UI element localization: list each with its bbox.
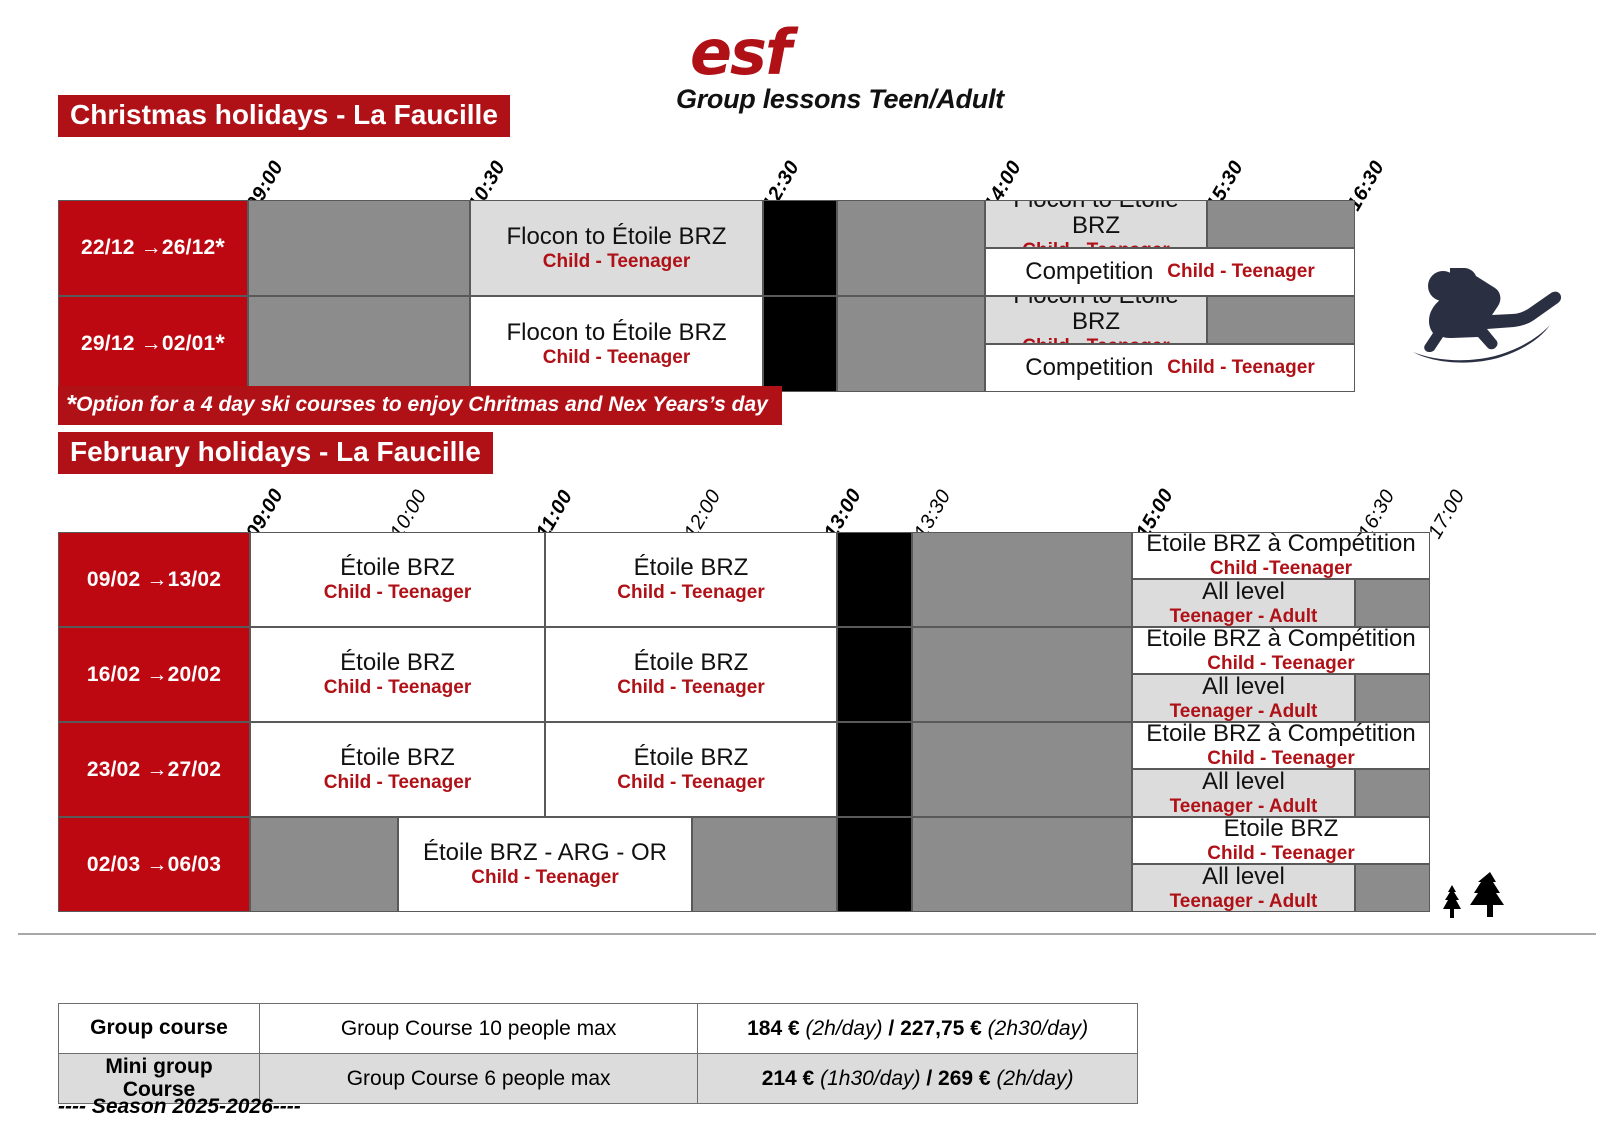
horizontal-divider (18, 933, 1596, 935)
christmas-row-1-lunch-break (763, 296, 837, 392)
february-row-0-slot1[interactable]: Étoile BRZ Child - Teenager (250, 532, 545, 627)
christmas-row-1-afternoon-top-audience: Child - Teenager (1022, 336, 1169, 344)
price-row-1-separator: / (926, 1067, 932, 1090)
february-row-1-slot2-audience: Child - Teenager (617, 677, 764, 698)
price-row-1-description: Group Course 6 people max (260, 1054, 698, 1104)
february-row-0-slot2[interactable]: Étoile BRZ Child - Teenager (545, 532, 837, 627)
february-row-1-slot1-audience: Child - Teenager (324, 677, 471, 698)
price-row-0-price1-detail: (2h/day) (806, 1017, 883, 1040)
february-row-2-lunch-break (837, 722, 912, 817)
february-row-2-day: 23/02 →27/02 (58, 722, 250, 817)
christmas-row-0-afternoon-bottom[interactable]: Competition Child - Teenager (985, 248, 1355, 296)
christmas-row-0-afternoon-bottom-audience: Child - Teenager (1167, 261, 1314, 282)
february-row-2-pm-top-title: Étoile BRZ à Compétition (1146, 722, 1415, 748)
february-row-3-day: 02/03 →06/03 (58, 817, 250, 912)
february-row-2-pm-bottom-title: All level (1202, 769, 1285, 796)
christmas-row-1-afternoon-bottom-audience: Child - Teenager (1167, 357, 1314, 378)
christmas-row-1-morning-audience: Child - Teenager (543, 347, 690, 368)
february-row-2-slot2-audience: Child - Teenager (617, 772, 764, 793)
page-subtitle: Group lessons Teen/Adult (676, 84, 1004, 115)
price-row-0-price2: 227,75 € (900, 1017, 982, 1040)
february-row-1-pm-bottom-title: All level (1202, 674, 1285, 701)
price-row-1-price1: 214 € (762, 1067, 815, 1090)
christmas-row-1-slot-0900 (248, 296, 470, 392)
february-row-3-slot-wide[interactable]: Étoile BRZ - ARG - OR Child - Teenager (398, 817, 692, 912)
price-row-1-label-line1: Mini group (67, 1056, 251, 1078)
christmas-row-1-afternoon-bottom[interactable]: Competition Child - Teenager (985, 344, 1355, 392)
february-row-2-pm-bottom[interactable]: All level Teenager - Adult (1132, 769, 1355, 817)
february-row-0-day: 09/02 →13/02 (58, 532, 250, 627)
february-row-0-lunch-break (837, 532, 912, 627)
christmas-row-0-morning-title: Flocon to Étoile BRZ (506, 224, 726, 251)
february-row-1-day: 16/02 →20/02 (58, 627, 250, 722)
price-row-1-price2-detail: (2h/day) (996, 1067, 1073, 1090)
christmas-row-0-afternoon-top-tail (1207, 200, 1355, 248)
february-row-3-lunch-break (837, 817, 912, 912)
february-row-3-pm-tail (1355, 864, 1430, 912)
christmas-row-1-afternoon-top-title: Flocon to Étoile BRZ (986, 296, 1206, 336)
february-row-2-slot1[interactable]: Étoile BRZ Child - Teenager (250, 722, 545, 817)
christmas-row-1-morning[interactable]: Flocon to Étoile BRZ Child - Teenager (470, 296, 763, 392)
season-label: ---- Season 2025-2026---- (58, 1095, 301, 1119)
price-row-0-separator: / (888, 1017, 894, 1040)
february-row-1-pm-bottom-audience: Teenager - Adult (1170, 701, 1318, 722)
christmas-row-1-morning-title: Flocon to Étoile BRZ (506, 320, 726, 347)
february-row-0-pm-top[interactable]: Étoile BRZ à Compétition Child -Teenager (1132, 532, 1430, 579)
february-row-2-gap (912, 722, 1132, 817)
february-row-2-slot2[interactable]: Étoile BRZ Child - Teenager (545, 722, 837, 817)
christmas-row-1-gap (837, 296, 985, 392)
february-row-0-slot1-title: Étoile BRZ (340, 555, 455, 582)
skier-icon (1395, 248, 1565, 368)
february-row-2-slot2-title: Étoile BRZ (634, 745, 749, 772)
christmas-row-0-day: 22/12 →26/12* (58, 200, 248, 296)
february-row-1-lunch-break (837, 627, 912, 722)
february-row-1-gap (912, 627, 1132, 722)
february-row-3-gap (912, 817, 1132, 912)
february-section-title: February holidays - La Faucille (58, 432, 493, 474)
february-row-3-slot-wide-title: Étoile BRZ - ARG - OR (423, 840, 667, 867)
christmas-row-1-afternoon-top[interactable]: Flocon to Étoile BRZ Child - Teenager (985, 296, 1207, 344)
february-row-1-slot1[interactable]: Étoile BRZ Child - Teenager (250, 627, 545, 722)
price-row-1-price1-detail: (1h30/day) (820, 1067, 920, 1090)
february-row-3-pm-bottom-title: All level (1202, 864, 1285, 891)
christmas-footnote: *Option for a 4 day ski courses to enjoy… (58, 386, 782, 425)
february-row-1-pm-top-title: Étoile BRZ à Compétition (1146, 627, 1415, 653)
february-row-1-pm-bottom[interactable]: All level Teenager - Adult (1132, 674, 1355, 722)
february-row-0-pm-bottom-title: All level (1202, 579, 1285, 606)
christmas-row-0-day-label: 22/12 →26/12 (81, 236, 215, 260)
price-row-0-price: 184 € (2h/day) / 227,75 € (2h30/day) (698, 1004, 1138, 1054)
february-row-2-pm-top-audience: Child - Teenager (1207, 748, 1354, 769)
pine-trees-icon (1428, 872, 1538, 920)
christmas-row-0-afternoon-bottom-title: Competition (1025, 259, 1153, 286)
christmas-row-0-lunch-break (763, 200, 837, 296)
christmas-row-0-slot-0900 (248, 200, 470, 296)
february-row-0-slot2-audience: Child - Teenager (617, 582, 764, 603)
christmas-section-title: Christmas holidays - La Faucille (58, 95, 510, 137)
february-row-2-pm-tail (1355, 769, 1430, 817)
christmas-row-0-morning[interactable]: Flocon to Étoile BRZ Child - Teenager (470, 200, 763, 296)
christmas-row-0-afternoon-top-audience: Child - Teenager (1022, 240, 1169, 248)
february-row-3-pm-top-title: Étoile BRZ (1224, 817, 1339, 843)
price-table: Group course Group Course 10 people max … (58, 1003, 1138, 1104)
esf-logo: esf (690, 22, 790, 84)
price-row-1-price2: 269 € (938, 1067, 991, 1090)
february-row-0-slot2-title: Étoile BRZ (634, 555, 749, 582)
february-row-1-pm-top-audience: Child - Teenager (1207, 653, 1354, 674)
february-row-3-leading-gap (250, 817, 398, 912)
february-row-1-pm-top[interactable]: Étoile BRZ à Compétition Child - Teenage… (1132, 627, 1430, 674)
february-row-0-pm-top-audience: Child -Teenager (1210, 558, 1352, 579)
february-row-3-pm-bottom-audience: Teenager - Adult (1170, 891, 1318, 912)
price-row-0-description: Group Course 10 people max (260, 1004, 698, 1054)
february-row-3-pm-top[interactable]: Étoile BRZ Child - Teenager (1132, 817, 1430, 864)
february-row-2-slot1-title: Étoile BRZ (340, 745, 455, 772)
price-row-0-price1: 184 € (747, 1017, 800, 1040)
february-row-2-slot1-audience: Child - Teenager (324, 772, 471, 793)
february-row-0-pm-top-title: Étoile BRZ à Compétition (1146, 532, 1415, 558)
february-row-0-pm-bottom-audience: Teenager - Adult (1170, 606, 1318, 627)
christmas-footnote-star: * (66, 389, 76, 419)
christmas-row-1-afternoon-top-tail (1207, 296, 1355, 344)
price-row-1-price: 214 € (1h30/day) / 269 € (2h/day) (698, 1054, 1138, 1104)
february-row-3-pm-top-audience: Child - Teenager (1207, 843, 1354, 864)
christmas-row-1-afternoon-bottom-title: Competition (1025, 355, 1153, 382)
february-row-0-pm-bottom[interactable]: All level Teenager - Adult (1132, 579, 1355, 627)
february-row-3-slot-wide-audience: Child - Teenager (471, 867, 618, 888)
christmas-row-0-afternoon-top[interactable]: Flocon to Étoile BRZ Child - Teenager (985, 200, 1207, 248)
christmas-row-0-gap (837, 200, 985, 296)
price-row-0-price2-detail: (2h30/day) (988, 1017, 1088, 1040)
february-row-1-slot2[interactable]: Étoile BRZ Child - Teenager (545, 627, 837, 722)
christmas-row-0-morning-audience: Child - Teenager (543, 251, 690, 272)
february-row-1-pm-tail (1355, 674, 1430, 722)
february-row-3-trailing-gap (692, 817, 837, 912)
christmas-footnote-text: Option for a 4 day ski courses to enjoy … (76, 393, 768, 416)
february-row-1-slot1-title: Étoile BRZ (340, 650, 455, 677)
february-row-2-pm-bottom-audience: Teenager - Adult (1170, 796, 1318, 817)
february-time-label-1700: 17:00 (1424, 486, 1470, 543)
christmas-row-0-afternoon-top-title: Flocon to Étoile BRZ (986, 200, 1206, 240)
price-table-row: Group course Group Course 10 people max … (59, 1004, 1138, 1054)
february-row-0-gap (912, 532, 1132, 627)
february-row-1-slot2-title: Étoile BRZ (634, 650, 749, 677)
february-row-2-pm-top[interactable]: Étoile BRZ à Compétition Child - Teenage… (1132, 722, 1430, 769)
february-row-0-pm-tail (1355, 579, 1430, 627)
february-row-3-pm-bottom[interactable]: All level Teenager - Adult (1132, 864, 1355, 912)
price-row-0-label: Group course (59, 1004, 260, 1054)
christmas-row-1-day-label: 29/12 →02/01 (81, 332, 215, 356)
february-row-0-slot1-audience: Child - Teenager (324, 582, 471, 603)
christmas-row-1-day: 29/12 →02/01* (58, 296, 248, 392)
